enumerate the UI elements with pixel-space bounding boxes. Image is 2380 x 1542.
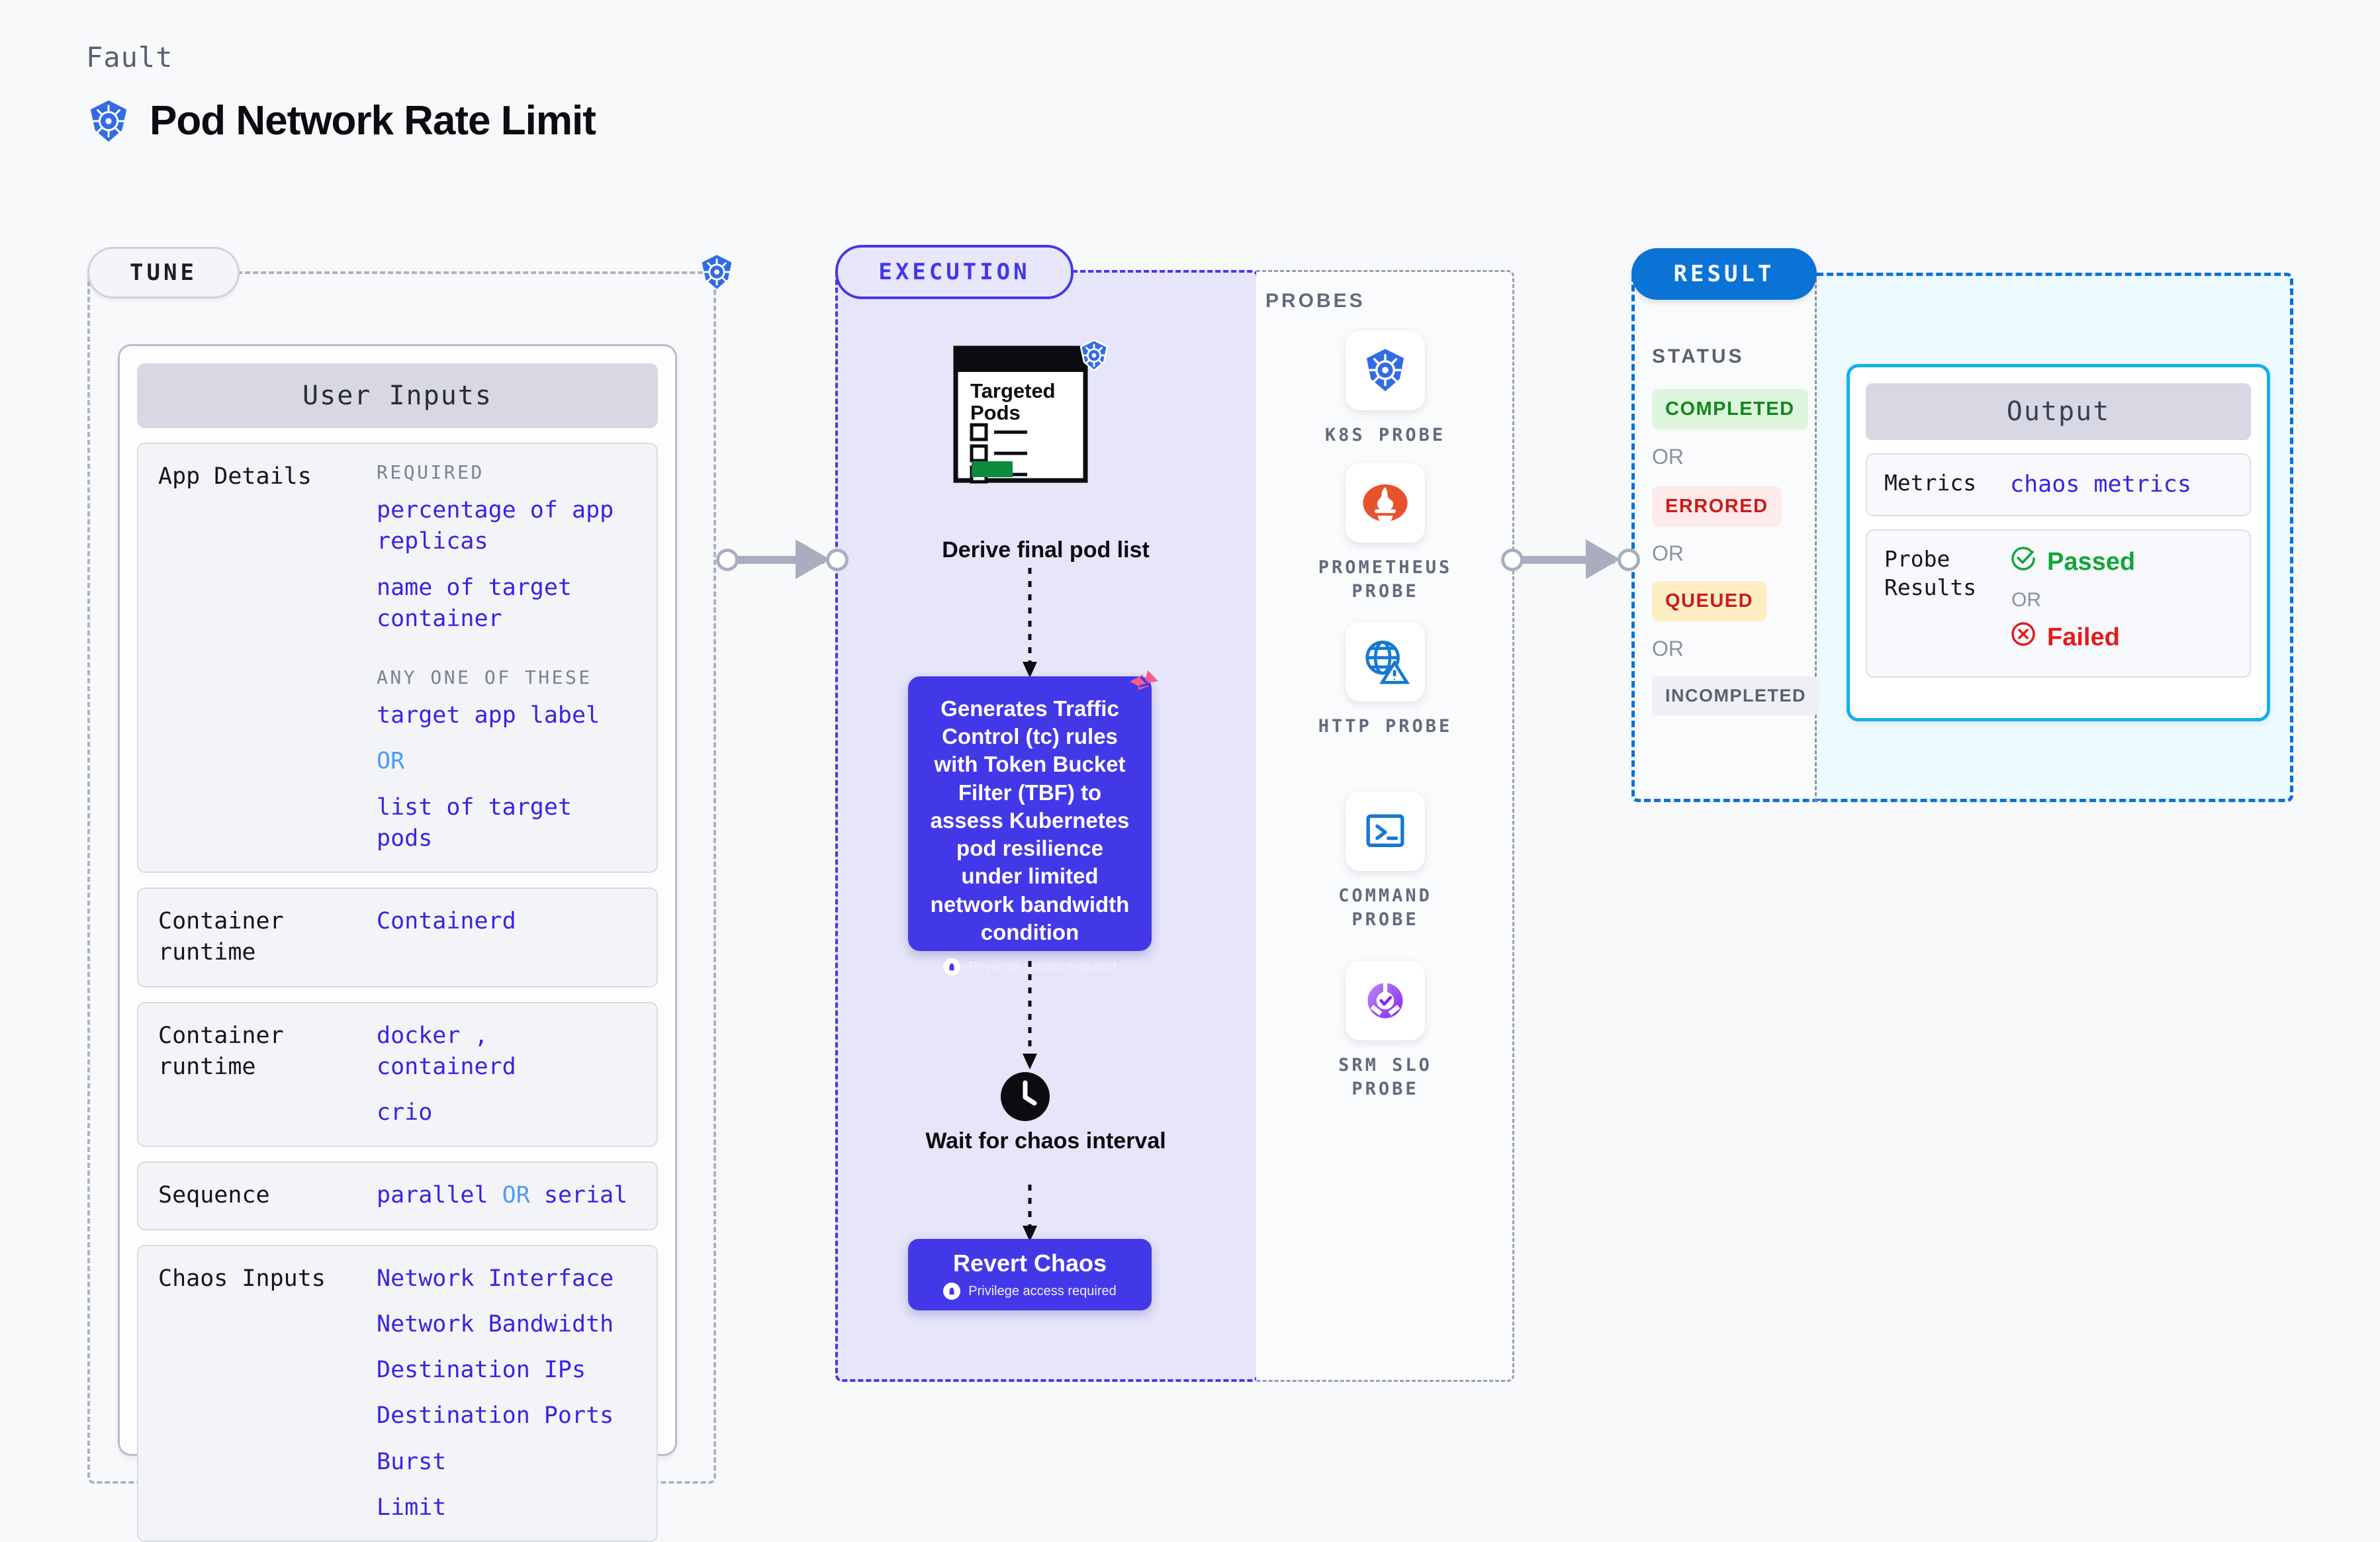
probes-title: PROBES xyxy=(1265,290,1365,312)
tune-row-label: App Details xyxy=(158,461,377,492)
probe-result-separator: OR xyxy=(2011,589,2232,612)
page-title: Pod Network Rate Limit xyxy=(150,97,596,144)
tune-row-sequence: Sequence parallel OR serial xyxy=(137,1161,658,1230)
wait-for-chaos-interval-label: Wait for chaos interval xyxy=(874,1126,1218,1156)
tune-value: percentage of app replicas xyxy=(377,495,637,558)
tune-value: Limit xyxy=(377,1492,637,1523)
chaos-action-card: Generates Traffic Control (tc) rules wit… xyxy=(908,676,1152,951)
revert-chaos-card: Revert Chaos Privilege access required xyxy=(908,1239,1152,1310)
probe-result-passed: Passed xyxy=(2010,545,2232,578)
tune-row-container-runtime-options: Container runtime docker , containerd cr… xyxy=(137,1002,658,1148)
status-badge-incompleted: INCOMPLETED xyxy=(1652,676,1819,715)
probe-command[interactable]: COMMAND PROBE xyxy=(1316,792,1455,932)
lock-icon xyxy=(943,958,960,975)
output-card: Output Metrics chaos metrics Probe Resul… xyxy=(1847,364,2270,721)
tune-value: list of target pods xyxy=(377,792,637,855)
flow-arrow xyxy=(1019,961,1046,1073)
probe-k8s[interactable]: K8S PROBE xyxy=(1316,331,1455,447)
status-separator: OR xyxy=(1652,445,1684,469)
metrics-label: Metrics xyxy=(1884,469,2010,498)
status-separator: OR xyxy=(1652,541,1684,566)
flow-arrow xyxy=(1019,568,1046,680)
fault-eyebrow: Fault xyxy=(86,41,596,73)
status-badge-completed: COMPLETED xyxy=(1652,389,1808,430)
tune-value: Network Bandwidth xyxy=(377,1309,637,1340)
page-header: Fault Pod Network Rate Limit xyxy=(86,41,596,144)
tune-tag: TUNE xyxy=(87,247,240,298)
privilege-note-text: Privilege access required xyxy=(968,1284,1116,1299)
status-separator: OR xyxy=(1652,637,1684,661)
tune-value: name of target container xyxy=(377,572,637,635)
probe-label: HTTP PROBE xyxy=(1316,715,1455,739)
tune-row-container-runtime: Container runtime Containerd xyxy=(137,887,658,987)
kubernetes-icon xyxy=(86,99,131,144)
connector-execution-to-result xyxy=(1501,539,1640,579)
chaos-description: Generates Traffic Control (tc) rules wit… xyxy=(925,695,1134,946)
required-caption: REQUIRED xyxy=(377,461,637,483)
failed-text: Failed xyxy=(2047,623,2120,652)
status-badge-queued: QUEUED xyxy=(1652,581,1766,621)
globe-warning-icon xyxy=(1346,622,1425,702)
status-badge-errored: ERRORED xyxy=(1652,486,1782,527)
check-circle-icon xyxy=(2010,545,2037,578)
tune-value: Network Interface xyxy=(377,1263,637,1294)
output-row-metrics: Metrics chaos metrics xyxy=(1866,453,2251,516)
tune-or-separator: OR xyxy=(377,746,637,777)
tune-value: Destination IPs xyxy=(377,1355,637,1386)
probe-label: COMMAND PROBE xyxy=(1316,884,1455,932)
progress-bar xyxy=(972,461,1013,477)
user-inputs-card: User Inputs App Details REQUIRED percent… xyxy=(118,344,677,1456)
targeted-pods-title-line1: Targeted xyxy=(970,380,1056,402)
tune-row-chaos-inputs: Chaos Inputs Network Interface Network B… xyxy=(137,1245,658,1542)
kubernetes-icon xyxy=(1077,339,1111,375)
probe-srm-slo[interactable]: SRM SLO PROBE xyxy=(1316,961,1455,1102)
x-circle-icon xyxy=(2010,621,2037,654)
terminal-icon xyxy=(1346,792,1425,871)
passed-text: Passed xyxy=(2047,548,2135,576)
probe-results-label: Probe Results xyxy=(1884,545,2010,602)
metrics-value: chaos metrics xyxy=(2010,469,2232,500)
litmus-chaos-icon xyxy=(1125,668,1161,707)
srm-slo-icon xyxy=(1346,961,1425,1040)
connector-tune-to-execution xyxy=(716,539,848,579)
tune-value: Destination Ports xyxy=(377,1400,637,1431)
output-row-probe-results: Probe Results Passed OR xyxy=(1866,529,2251,678)
derive-final-pod-list-label: Derive final pod list xyxy=(860,537,1231,563)
prometheus-icon xyxy=(1346,463,1425,543)
tune-row-app-details: App Details REQUIRED percentage of app r… xyxy=(137,443,658,873)
tune-row-label: Container runtime xyxy=(158,1020,377,1083)
result-tag: RESULT xyxy=(1631,248,1817,300)
flow-arrow xyxy=(1019,1185,1046,1244)
tune-value: parallel OR serial xyxy=(377,1180,637,1211)
kubernetes-icon xyxy=(698,253,735,294)
clock-icon xyxy=(1001,1072,1050,1124)
any-one-caption: ANY ONE OF THESE xyxy=(377,666,637,688)
lock-icon xyxy=(943,1283,960,1300)
status-title: STATUS xyxy=(1652,345,1745,368)
tune-value: target app label xyxy=(377,700,637,731)
kubernetes-icon xyxy=(1346,331,1425,410)
tune-value: Containerd xyxy=(377,906,637,937)
tune-row-label: Chaos Inputs xyxy=(158,1263,377,1294)
probe-prometheus[interactable]: PROMETHEUS PROBE xyxy=(1316,463,1455,604)
probe-label: PROMETHEUS PROBE xyxy=(1316,556,1455,604)
tune-row-label: Container runtime xyxy=(158,906,377,969)
probe-result-failed: Failed xyxy=(2010,621,2232,654)
revert-chaos-title: Revert Chaos xyxy=(953,1249,1107,1277)
output-title: Output xyxy=(1866,383,2251,440)
user-inputs-title: User Inputs xyxy=(137,363,658,428)
tune-value: Burst xyxy=(377,1447,637,1478)
targeted-pods-title-line2: Pods xyxy=(970,402,1056,424)
tune-value: crio xyxy=(377,1097,637,1128)
tune-value: docker , containerd xyxy=(377,1020,637,1083)
execution-tag: EXECUTION xyxy=(835,245,1074,299)
probe-label: K8S PROBE xyxy=(1316,424,1455,447)
privilege-note: Privilege access required xyxy=(943,1283,1116,1300)
tune-row-label: Sequence xyxy=(158,1180,377,1211)
probe-http[interactable]: HTTP PROBE xyxy=(1316,622,1455,739)
probe-label: SRM SLO PROBE xyxy=(1316,1054,1455,1102)
